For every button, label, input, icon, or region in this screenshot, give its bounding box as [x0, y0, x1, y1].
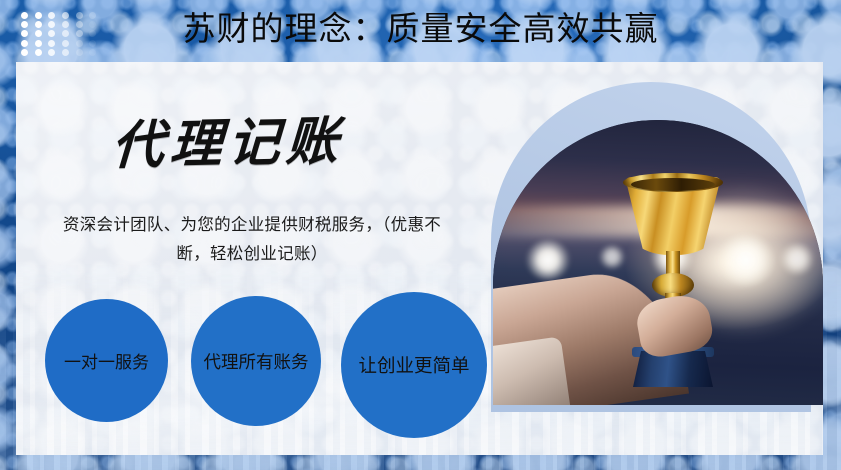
- trophy-icon: [625, 177, 721, 397]
- bokeh-light: [780, 243, 814, 275]
- badge-circle-2[interactable]: 代理所有账务: [191, 296, 321, 426]
- bokeh-light: [717, 234, 775, 286]
- body-description: 资深会计团队、为您的企业提供财税服务，（优惠不断，轻松创业记账）: [62, 210, 442, 268]
- bokeh-light: [599, 245, 625, 269]
- trophy-photo: [493, 120, 823, 405]
- slide-root: 苏财的理念：质量安全高效共赢: [0, 0, 841, 470]
- page-title: 苏财的理念：质量安全高效共赢: [0, 7, 841, 51]
- sleeve-cuff: [493, 337, 570, 405]
- badge-circle-3[interactable]: 让创业更简单: [341, 292, 487, 438]
- trophy-inner: [631, 178, 715, 191]
- section-heading: 代理记账: [110, 110, 345, 179]
- badge-circle-1[interactable]: 一对一服务: [45, 299, 168, 422]
- trophy-base: [633, 351, 713, 387]
- bokeh-light: [526, 240, 570, 280]
